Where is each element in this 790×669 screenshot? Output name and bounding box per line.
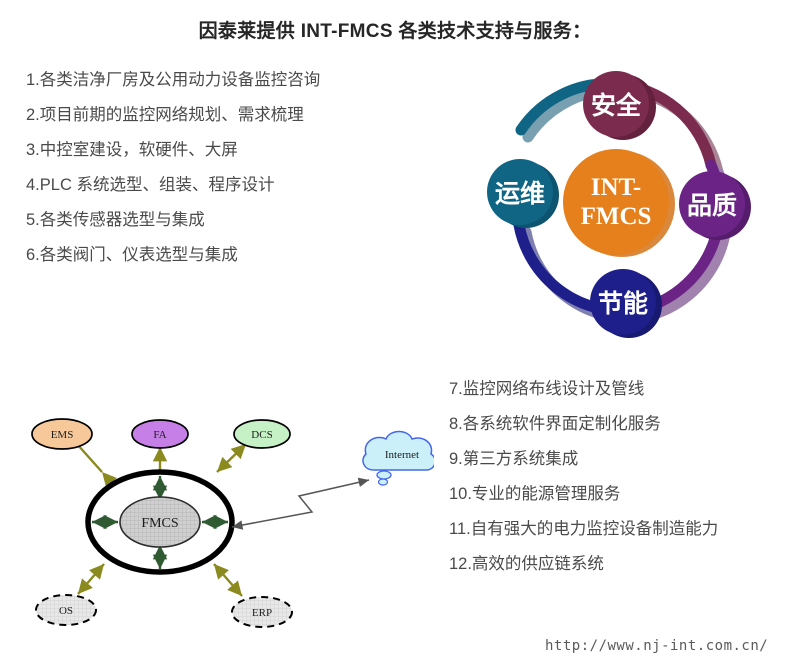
watermark-url: http://www.nj-int.com.cn/ (545, 638, 768, 654)
service-list-right: 7.监控网络布线设计及管线 8.各系统软件界面定制化服务 9.第三方系统集成 1… (449, 381, 718, 591)
link-os-boundary (78, 564, 104, 594)
ring-center-node: INT- FMCS (563, 149, 675, 257)
list-item: 11.自有强大的电力监控设备制造能力 (449, 521, 718, 538)
network-node-internet[interactable]: Internet (363, 432, 434, 486)
network-node-fa[interactable]: FA (132, 420, 188, 448)
network-node-internet-label: Internet (385, 449, 419, 461)
ring-node-maintenance[interactable]: 运维 (487, 159, 559, 228)
fmcs-network-diagram: FMCS EMS FA DCS OS ERP (14, 412, 434, 657)
network-node-dcs[interactable]: DCS (234, 420, 290, 448)
network-node-fa-label: FA (153, 429, 166, 441)
link-dcs-boundary (217, 444, 246, 472)
network-node-os[interactable]: OS (36, 595, 96, 625)
list-item: 4.PLC 系统选型、组装、程序设计 (26, 177, 320, 194)
network-node-ems[interactable]: EMS (32, 419, 92, 449)
list-item: 7.监控网络布线设计及管线 (449, 381, 718, 398)
list-item: 3.中控室建设，软硬件、大屏 (26, 142, 320, 159)
network-node-fmcs[interactable]: FMCS (120, 497, 200, 547)
list-item: 6.各类阀门、仪表选型与集成 (26, 247, 320, 264)
ring-node-quality-label: 品质 (687, 192, 737, 220)
list-item: 8.各系统软件界面定制化服务 (449, 416, 718, 433)
ring-node-maintenance-label: 运维 (495, 179, 545, 208)
network-node-erp[interactable]: ERP (232, 597, 292, 627)
ring-center-label-line1: INT- (591, 174, 642, 201)
ring-node-security-label: 安全 (591, 91, 642, 120)
list-item: 5.各类传感器选型与集成 (26, 212, 320, 229)
list-item: 2.项目前期的监控网络规划、需求梳理 (26, 107, 320, 124)
ring-node-energy[interactable]: 节能 (590, 269, 662, 338)
service-list-left: 1.各类洁净厂房及公用动力设备监控咨询 2.项目前期的监控网络规划、需求梳理 3… (26, 72, 320, 282)
list-item: 1.各类洁净厂房及公用动力设备监控咨询 (26, 72, 320, 89)
list-item: 12.高效的供应链系统 (449, 556, 718, 573)
link-erp-boundary (214, 564, 242, 596)
ring-node-energy-label: 节能 (598, 289, 648, 318)
network-node-erp-label: ERP (252, 607, 272, 619)
ring-node-quality[interactable]: 品质 (679, 171, 751, 240)
network-node-ems-label: EMS (51, 429, 74, 441)
list-item: 9.第三方系统集成 (449, 451, 718, 468)
network-node-fmcs-label: FMCS (141, 516, 178, 531)
link-boundary-internet (232, 480, 369, 527)
ring-node-security[interactable]: 安全 (583, 71, 656, 140)
ring-center-label-line2: FMCS (581, 203, 652, 230)
network-node-os-label: OS (59, 605, 73, 617)
list-item: 10.专业的能源管理服务 (449, 486, 718, 503)
page-title: 因泰莱提供 INT-FMCS 各类技术支持与服务： (0, 16, 790, 43)
network-node-dcs-label: DCS (251, 429, 272, 441)
int-fmcs-ring-diagram: INT- FMCS 安全 品质 节能 运维 (468, 62, 768, 352)
link-ems-boundary (77, 444, 102, 472)
